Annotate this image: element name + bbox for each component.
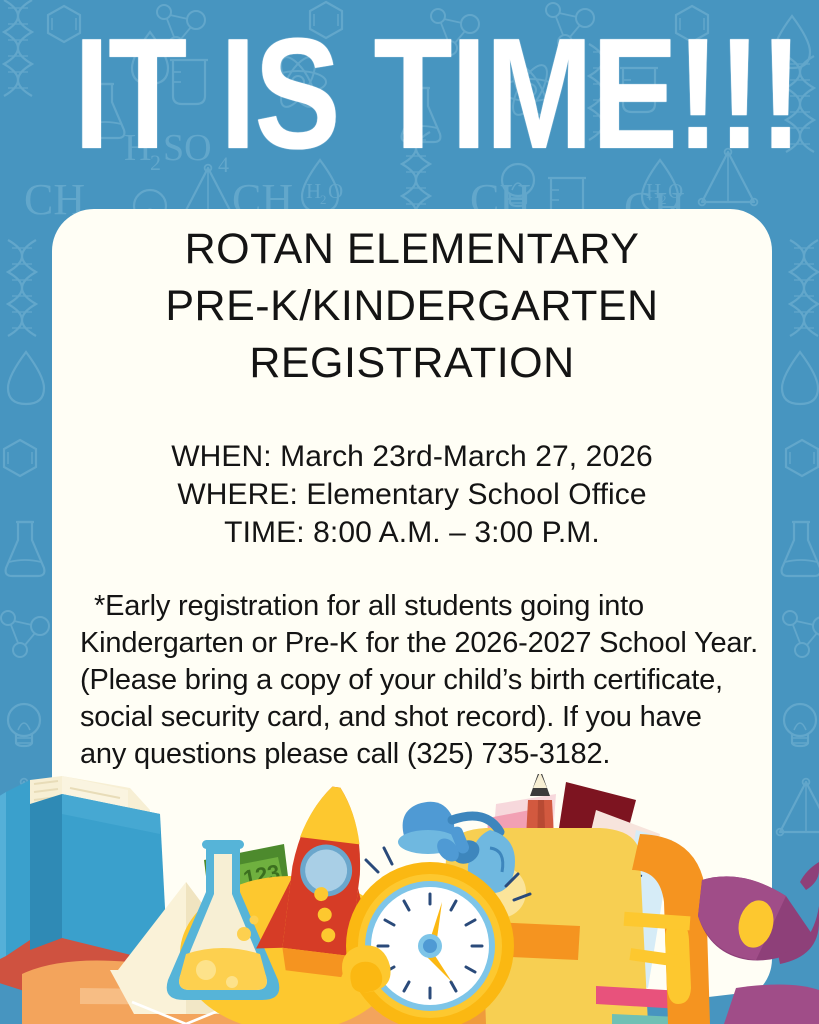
svg-text:O: O: [328, 179, 343, 203]
title-line-1: ROTAN ELEMENTARY: [70, 221, 754, 278]
svg-text:2: 2: [320, 192, 327, 207]
body-line-4: social security card, and shot record). …: [80, 699, 746, 736]
title-line-3: REGISTRATION: [70, 335, 754, 392]
body-paragraph: *Early registration for all students goi…: [70, 588, 754, 773]
body-line-3: (Please bring a copy of your child’s bir…: [80, 662, 746, 699]
school-supplies-illustration: 123: [0, 774, 819, 1024]
svg-text:H: H: [306, 179, 321, 203]
detail-when: WHEN: March 23rd-March 27, 2026: [70, 438, 754, 476]
title-line-2: PRE-K/KINDERGARTEN: [70, 278, 754, 335]
headline: IT IS TIME!!!: [74, 18, 746, 170]
detail-time: TIME: 8:00 A.M. – 3:00 P.M.: [70, 514, 754, 552]
open-book: [0, 776, 168, 966]
event-details: WHEN: March 23rd-March 27, 2026 WHERE: E…: [70, 438, 754, 552]
detail-where: WHERE: Elementary School Office: [70, 476, 754, 514]
body-line-2: Kindergarten or Pre-K for the 2026-2027 …: [80, 625, 746, 662]
body-line-5: any questions please call (325) 735-3182…: [80, 736, 746, 773]
registration-flyer: H 2 SO 4 H 2 O H 2 O CH: [0, 0, 819, 1024]
page-title: ROTAN ELEMENTARY PRE-K/KINDERGARTEN REGI…: [70, 221, 754, 392]
body-line-1: *Early registration for all students goi…: [80, 588, 746, 625]
